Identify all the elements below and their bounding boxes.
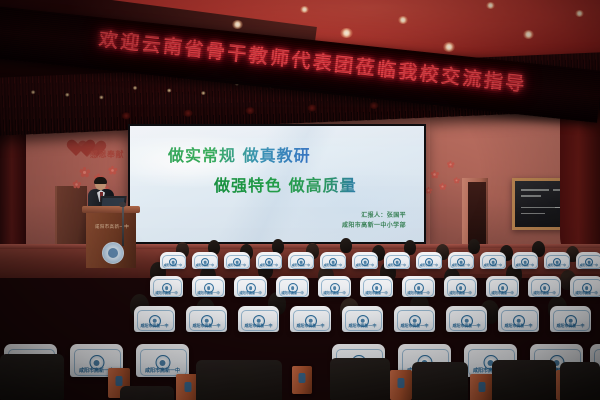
seat-cover-label: 咸阳市高新一中: [186, 323, 227, 329]
seat-cover: 咸阳市高新一中: [544, 252, 570, 269]
seat-shell: [492, 360, 556, 400]
stage-spot-5: [369, 102, 378, 109]
seat-cover-label: 咸阳市高新一中: [238, 323, 279, 329]
auditorium-photo: 感恩奉献 欢迎云南省骨干教师代表团莅临我校交流指导 做实常规 做真教研 做强特色…: [0, 0, 600, 400]
seat-cover-label: 咸阳市高新一中: [480, 263, 506, 267]
seat: 咸阳市高新一中: [150, 276, 183, 297]
seat-cover-label: 咸阳市高新一中: [384, 263, 410, 267]
seat-cover: 咸阳市高新一中: [360, 276, 393, 297]
downlight-1: [232, 20, 243, 29]
seat-cover: 咸阳市高新一中: [486, 276, 519, 297]
seat-armrest: [470, 374, 494, 400]
seat-cover-label: 咸阳市高新一中: [394, 323, 435, 329]
seat-cover: 咸阳市高新一中: [238, 306, 279, 332]
heart-logo-label: 感恩奉献: [90, 149, 124, 160]
stage-spot-1: [122, 112, 131, 119]
seat-shell: [560, 362, 600, 400]
seat-cover: 咸阳市高新一中: [512, 252, 538, 269]
seat-cover-label: 咸阳市高新一中: [256, 263, 282, 267]
seat: 咸阳市高新一中: [186, 306, 227, 332]
seat-cover: 咸阳市高新一中: [480, 252, 506, 269]
seat: 咸阳市高新一中: [256, 252, 282, 269]
stage-spot-4: [307, 104, 316, 111]
microphone-icon: [119, 202, 126, 207]
seat-cover-label: 咸阳市高新一中: [160, 263, 186, 267]
seat-shell: [412, 362, 468, 400]
seat: 咸阳市高新一中: [352, 252, 378, 269]
seat-cover: 咸阳市高新一中: [288, 252, 314, 269]
blossom-icon-8: [426, 188, 432, 194]
blossom-icon-3: [109, 167, 117, 175]
seat-cover: 咸阳市高新一中: [416, 252, 442, 269]
blossom-icon-6: [431, 171, 438, 178]
seat-cover: 咸阳市高新一中: [256, 252, 282, 269]
seat-cover-label: 咸阳市高新一中: [290, 323, 331, 329]
seat: 咸阳市高新一中: [550, 306, 591, 332]
chalk-mark-1: [521, 189, 549, 191]
seat: 咸阳市高新一中: [224, 252, 250, 269]
seat-cover-label: 咸阳市高新一中: [550, 323, 591, 329]
speaker-hair: [94, 177, 107, 184]
seat-cover-label: 咸阳市高新一中: [224, 263, 250, 267]
seat-shell: [0, 354, 64, 400]
blossom-icon-9: [447, 161, 453, 167]
audience-area: 咸阳市高新一中咸阳市高新一中咸阳市高新一中咸阳市高新一中咸阳市高新一中咸阳市高新…: [0, 236, 600, 400]
seat: 咸阳市高新一中: [576, 252, 600, 269]
chalk-mark-2: [521, 195, 541, 197]
seat: 咸阳市高新一中: [498, 306, 539, 332]
seat: 咸阳市高新一中: [448, 252, 474, 269]
seat-cover-label: 咸阳市高新一中: [528, 290, 561, 295]
seat: 咸阳市高新一中: [402, 276, 435, 297]
seat-shell: [196, 360, 282, 400]
seat: 咸阳市高新一中: [416, 252, 442, 269]
seat-cover: 咸阳市高新一中: [352, 252, 378, 269]
seat-armrest: [292, 366, 312, 394]
seat: 咸阳市高新一中: [192, 252, 218, 269]
valance-light-5: [167, 88, 172, 92]
downlight-7: [523, 30, 534, 39]
seat-cover-label: 咸阳市高新一中: [448, 263, 474, 267]
seat-cover-label: 咸阳市高新一中: [234, 290, 267, 295]
seat-cover-label: 咸阳市高新一中: [360, 290, 393, 295]
seat: 咸阳市高新一中: [136, 344, 189, 377]
seat-cover: 咸阳市高新一中: [160, 252, 186, 269]
seat: 咸阳市高新一中: [276, 276, 309, 297]
seat: 咸阳市高新一中: [160, 252, 186, 269]
seat-cover: 咸阳市高新一中: [136, 344, 189, 377]
seat-cover: 咸阳市高新一中: [384, 252, 410, 269]
seat: 咸阳市高新一中: [320, 252, 346, 269]
seat-cover: 咸阳市高新一中: [318, 276, 351, 297]
valance-light-3: [99, 95, 104, 99]
seat-cover-label: 咸阳市高新一中: [192, 263, 218, 267]
audience-member: [340, 238, 352, 253]
stage-spot-3: [245, 107, 254, 114]
seat-cover: 咸阳市高新一中: [570, 276, 600, 297]
blossom-icon-1: [80, 168, 89, 177]
blossom-icon-11: [454, 178, 459, 183]
seat-cover: 咸阳市高新一中: [550, 306, 591, 332]
seat-cover-label: 咸阳市高新一中: [352, 263, 378, 267]
screen-glare: [130, 126, 424, 242]
seat-cover-label: 咸阳市高新一中: [192, 290, 225, 295]
heart-logo: 感恩奉献: [66, 140, 122, 166]
seat-cover-label: 咸阳市高新一中: [498, 323, 539, 329]
seat-cover: 咸阳市高新一中: [444, 276, 477, 297]
seat-cover: 咸阳市高新一中: [498, 306, 539, 332]
seat: 咸阳市高新一中: [134, 306, 175, 332]
seat-cover-label: 咸阳市高新一中: [150, 290, 183, 295]
seat-cover: 咸阳市高新一中: [446, 306, 487, 332]
seat-cover: 咸阳市高新一中: [150, 276, 183, 297]
chalk-mark-5: [521, 213, 545, 214]
seat-cover-label: 咸阳市高新一中: [416, 263, 442, 267]
seat-cover: 咸阳市高新一中: [528, 276, 561, 297]
seat: 咸阳市高新一中: [384, 252, 410, 269]
downlight-4: [398, 16, 408, 24]
seat-cover-label: 咸阳市高新一中: [512, 263, 538, 267]
blossom-icon-4: [73, 181, 80, 188]
valance-light-4: [132, 86, 137, 90]
seat-cover: 咸阳市高新一中: [234, 276, 267, 297]
seat-cover: 咸阳市高新一中: [320, 252, 346, 269]
seat-cover: 咸阳市高新一中: [134, 306, 175, 332]
seat: 咸阳市高新一中: [290, 306, 331, 332]
projection-screen: 做实常规 做真教研 做强特色 做高质量 汇报人：张国平 咸阳市高新一中小学部: [130, 126, 424, 242]
seat: 咸阳市高新一中: [444, 276, 477, 297]
seat: 咸阳市高新一中: [318, 276, 351, 297]
seat-cover-label: 咸阳市高新一中: [446, 323, 487, 329]
valance-light-6: [201, 91, 206, 95]
seat-cover-label: 咸阳市高新一中: [342, 323, 383, 329]
seat-shell: [120, 386, 174, 400]
seat-cover-label: 咸阳市高新一中: [134, 323, 175, 329]
downlight-5: [443, 42, 455, 52]
seat: 咸阳市高新一中: [528, 276, 561, 297]
seat-cover-label: 咸阳市高新一中: [318, 290, 351, 295]
seat-cover: 咸阳市高新一中: [224, 252, 250, 269]
seat-cover: 咸阳市高新一中: [276, 276, 309, 297]
seat: 咸阳市高新一中: [394, 306, 435, 332]
seat: 咸阳市高新一中: [570, 276, 600, 297]
seat-cover-label: 咸阳市高新一中: [576, 263, 600, 267]
seat-cover-label: 咸阳市高新一中: [402, 290, 435, 295]
seat-cover: 咸阳市高新一中: [290, 306, 331, 332]
seat-cover: 咸阳市高新一中: [192, 252, 218, 269]
seat: 咸阳市高新一中: [480, 252, 506, 269]
seat: 咸阳市高新一中: [544, 252, 570, 269]
valance-light-1: [31, 90, 36, 94]
seat: 咸阳市高新一中: [486, 276, 519, 297]
seat-armrest: [390, 370, 412, 400]
blossom-icon-7: [439, 183, 445, 189]
seat-cover: 咸阳市高新一中: [342, 306, 383, 332]
seat-cover: 咸阳市高新一中: [402, 276, 435, 297]
seat-cover-label: 咸阳市高新一中: [544, 263, 570, 267]
seat-cover-label: 咸阳市高新一中: [444, 290, 477, 295]
seat-cover-label: 咸阳市高新一中: [570, 290, 600, 295]
seat-cover: 咸阳市高新一中: [394, 306, 435, 332]
seat-cover: 咸阳市高新一中: [192, 276, 225, 297]
seat-cover: 咸阳市高新一中: [448, 252, 474, 269]
seat: 咸阳市高新一中: [192, 276, 225, 297]
seat-cover-label: 咸阳市高新一中: [320, 263, 346, 267]
seat: 咸阳市高新一中: [342, 306, 383, 332]
seat-cover-label: 咸阳市高新一中: [486, 290, 519, 295]
seat-cover-label: 咸阳市高新一中: [288, 263, 314, 267]
seat-shell: [330, 358, 390, 400]
seat-cover-label: 咸阳市高新一中: [136, 367, 189, 374]
seat: 咸阳市高新一中: [512, 252, 538, 269]
podium-label: 咸阳市高新一中: [92, 224, 132, 230]
seat: 咸阳市高新一中: [234, 276, 267, 297]
stage-spot-2: [184, 110, 193, 117]
seat-cover: 咸阳市高新一中: [576, 252, 600, 269]
podium-top: [82, 206, 140, 213]
seat-cover: 咸阳市高新一中: [186, 306, 227, 332]
seat-cover-label: 咸阳市高新一中: [276, 290, 309, 295]
seat: 咸阳市高新一中: [446, 306, 487, 332]
projection-screen-frame: 做实常规 做真教研 做强特色 做高质量 汇报人：张国平 咸阳市高新一中小学部: [128, 124, 426, 244]
seat: 咸阳市高新一中: [238, 306, 279, 332]
valance-light-2: [65, 93, 70, 97]
seat: 咸阳市高新一中: [360, 276, 393, 297]
seat: 咸阳市高新一中: [288, 252, 314, 269]
